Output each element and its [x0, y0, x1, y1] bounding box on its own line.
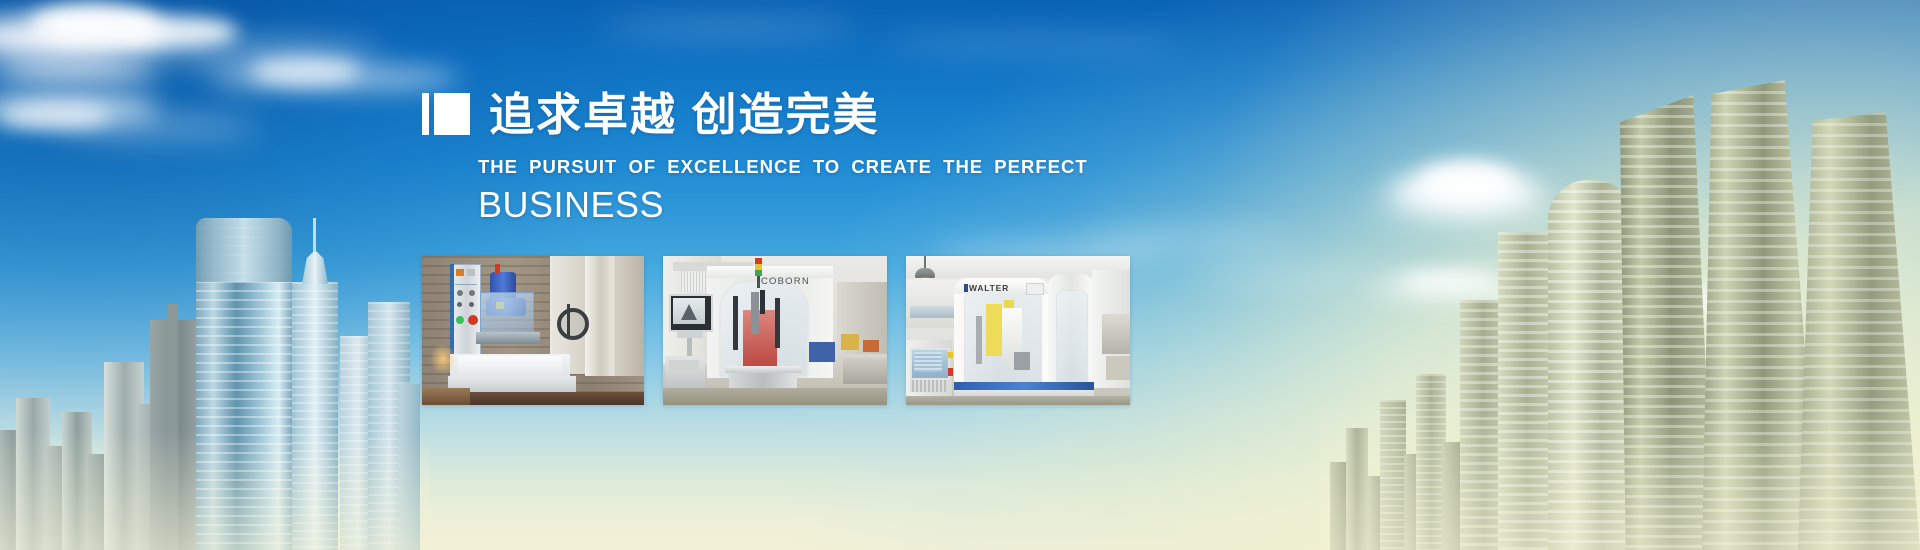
product-photo-3[interactable]: WALTER: [906, 256, 1130, 405]
headline-block: 追求卓越 创造完美 THE PURSUIT OF EXCELLENCE TO C…: [422, 88, 1142, 226]
logo-bar-icon: [422, 93, 429, 135]
product-photo-1[interactable]: [422, 256, 644, 405]
hero-banner: 追求卓越 创造完美 THE PURSUIT OF EXCELLENCE TO C…: [0, 0, 1920, 550]
subheadline-english: THE PURSUIT OF EXCELLENCE TO CREATE THE …: [478, 156, 1142, 178]
product-photo-strip: COBORN: [422, 256, 1130, 405]
logo-square-icon: [434, 93, 470, 135]
skyline-left: [0, 130, 430, 550]
headline-row: 追求卓越 创造完美: [422, 88, 1142, 140]
headline-chinese: 追求卓越 创造完美: [489, 92, 880, 137]
product-photo-2[interactable]: COBORN: [663, 256, 887, 405]
subheadline-business: BUSINESS: [478, 184, 1142, 226]
photo-2-brand-label: COBORN: [761, 276, 810, 287]
photo-3-brand-label: WALTER: [969, 283, 1009, 293]
logo-mark: [422, 93, 470, 135]
skyline-right: [1320, 80, 1920, 550]
